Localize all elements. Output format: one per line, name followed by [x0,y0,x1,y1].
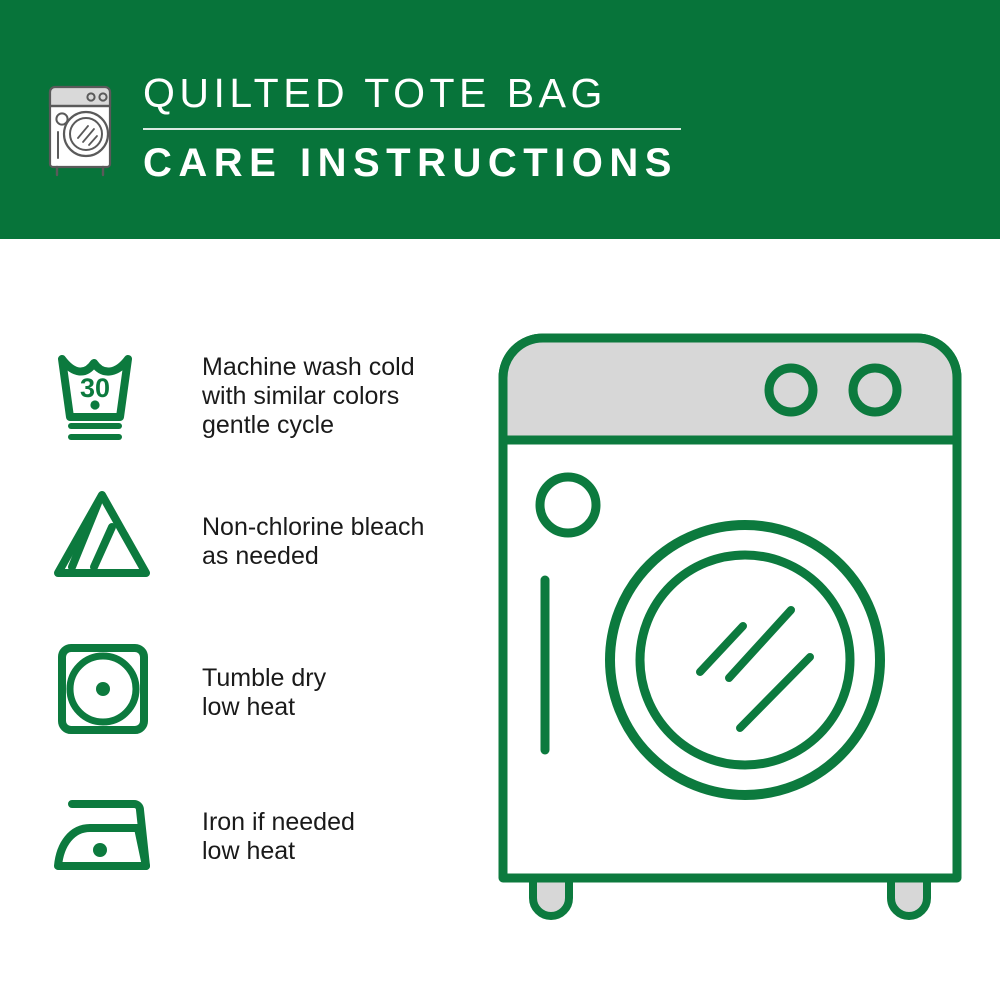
front-load-washing-machine-illustration [495,330,965,930]
care-text-line: Iron if needed [202,808,355,837]
header-banner: QUILTED TOTE BAG CARE INSTRUCTIONS [0,0,1000,239]
care-text-line: low heat [202,693,326,722]
care-text-line: Non-chlorine bleach [202,513,424,542]
tumble-dry-low-heat-icon [50,640,160,740]
title-divider [143,128,681,130]
care-text-bleach: Non-chlorine bleach as needed [202,485,424,571]
care-text-line: with similar colors [202,382,415,411]
care-text-iron: Iron if needed low heat [202,790,355,866]
header-title-group: QUILTED TOTE BAG CARE INSTRUCTIONS [143,68,703,186]
care-text-tumble-dry: Tumble dry low heat [202,640,326,722]
care-text-line: as needed [202,542,424,571]
page-subtitle: CARE INSTRUCTIONS [143,140,703,186]
care-row-tumble-dry: Tumble dry low heat [50,640,470,740]
care-text-line: Tumble dry [202,664,326,693]
care-text-wash: Machine wash cold with similar colors ge… [202,345,415,440]
washing-machine-icon [45,72,119,178]
care-instruction-list: 30 Machine wash cold with similar colors… [0,240,480,1000]
care-text-line: gentle cycle [202,411,415,440]
page-title: QUILTED TOTE BAG [143,68,703,118]
care-row-wash: 30 Machine wash cold with similar colors… [50,345,470,449]
care-text-line: Machine wash cold [202,353,415,382]
care-text-line: low heat [202,837,355,866]
wash-tub-30-gentle-icon: 30 [50,345,160,449]
triangle-non-chlorine-bleach-icon [50,485,160,585]
care-instructions-infographic: QUILTED TOTE BAG CARE INSTRUCTIONS 30 [0,0,1000,1000]
control-panel [503,338,957,440]
care-row-bleach: Non-chlorine bleach as needed [50,485,470,585]
care-row-iron: Iron if needed low heat [50,790,470,882]
wash-temp-label: 30 [80,373,110,403]
iron-low-heat-icon [50,790,160,882]
